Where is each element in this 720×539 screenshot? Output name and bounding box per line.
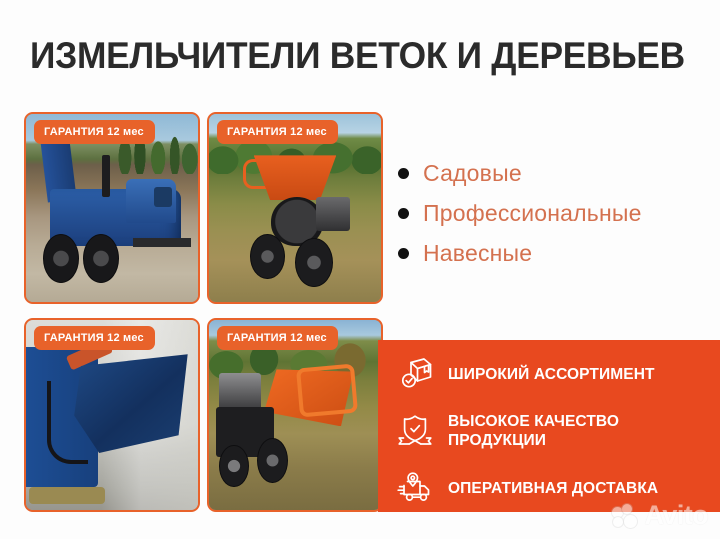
wheel <box>219 445 248 487</box>
exhaust-stack <box>102 155 111 196</box>
poster-canvas: ИЗМЕЛЬЧИТЕЛИ ВЕТОК И ДЕРЕВЬЕВ ГАРАНТИЯ 1… <box>0 0 720 539</box>
engine-block <box>316 197 350 231</box>
shield-check-award-icon <box>394 410 436 452</box>
wheel <box>295 238 333 287</box>
features-panel: ШИРОКИЙ АССОРТИМЕНТ ВЫСОКОЕ КАЧЕСТВО ПРО… <box>378 340 720 512</box>
page-title: ИЗМЕЛЬЧИТЕЛИ ВЕТОК И ДЕРЕВЬЕВ <box>30 34 670 78</box>
warranty-badge: ГАРАНТИЯ 12 мес <box>217 120 338 144</box>
chipper-bucket <box>74 354 188 453</box>
category-label: Навесные <box>423 240 532 266</box>
feature-label-line1: ВЫСОКОЕ КАЧЕСТВО <box>448 413 619 430</box>
list-item: Профессиональные <box>398 200 708 226</box>
list-item: Садовые <box>398 160 708 186</box>
delivery-truck-icon <box>394 467 436 509</box>
feature-label: ОПЕРАТИВНАЯ ДОСТАВКА <box>448 479 658 498</box>
feature-label-line2: ПРОДУКЦИИ <box>448 432 546 449</box>
wheel <box>43 234 79 283</box>
machine-base <box>29 487 105 504</box>
product-card-3[interactable]: ГАРАНТИЯ 12 мес <box>24 318 200 512</box>
wheel <box>83 234 119 283</box>
bullet-dot-icon <box>398 168 409 179</box>
package-check-icon <box>394 353 436 395</box>
warranty-badge: ГАРАНТИЯ 12 мес <box>34 326 155 350</box>
category-label: Профессиональные <box>423 200 642 226</box>
hopper-rim <box>296 363 359 417</box>
category-label: Садовые <box>423 160 522 186</box>
hydraulic-hose <box>47 381 88 465</box>
category-list: Садовые Профессиональные Навесные <box>398 160 708 280</box>
wheel <box>250 234 284 279</box>
feature-high-quality: ВЫСОКОЕ КАЧЕСТВО ПРОДУКЦИИ <box>394 400 720 462</box>
feature-fast-delivery: ОПЕРАТИВНАЯ ДОСТАВКА <box>394 462 720 514</box>
product-card-4[interactable]: ГАРАНТИЯ 12 мес <box>207 318 383 512</box>
feature-label: ШИРОКИЙ АССОРТИМЕНТ <box>448 365 655 384</box>
chipper-hopper <box>254 155 337 200</box>
bullet-dot-icon <box>398 208 409 219</box>
product-card-1[interactable]: ГАРАНТИЯ 12 мес <box>24 112 200 304</box>
feature-label: ВЫСОКОЕ КАЧЕСТВО ПРОДУКЦИИ <box>448 412 619 450</box>
trailer-deck <box>133 238 191 247</box>
product-card-2[interactable]: ГАРАНТИЯ 12 мес <box>207 112 383 304</box>
chipper-cabinet <box>126 179 176 223</box>
wheel <box>257 438 288 484</box>
list-item: Навесные <box>398 240 708 266</box>
feature-wide-assortment: ШИРОКИЙ АССОРТИМЕНТ <box>394 348 720 400</box>
warranty-badge: ГАРАНТИЯ 12 мес <box>34 120 155 144</box>
bullet-dot-icon <box>398 248 409 259</box>
warranty-badge: ГАРАНТИЯ 12 мес <box>217 326 338 350</box>
